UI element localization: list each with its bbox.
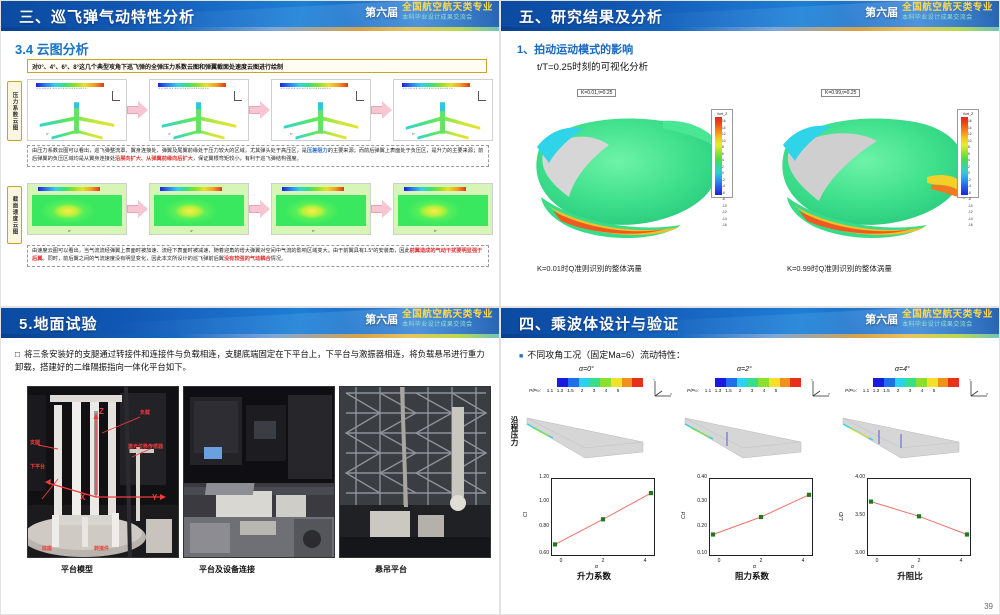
velocity-case-label-1: 4° xyxy=(190,229,193,233)
chart1-title: 阻力系数 xyxy=(673,570,831,582)
chart1-ytick-1: 0.20 xyxy=(685,523,707,529)
note2-part-c: 情况。 xyxy=(271,256,287,262)
chart2-xtick-0: 0 xyxy=(870,558,884,564)
chart1-xtick-1: 2 xyxy=(754,558,768,564)
waverider-geometry-2 xyxy=(839,402,999,476)
logo-line2: 本科毕业设计成果交流会 xyxy=(902,15,993,21)
row1-vertical-label: 压力系数云图 xyxy=(7,81,22,141)
arrow-icon-2 xyxy=(249,100,271,120)
row2-vertical-label: 截面速度云图 xyxy=(7,186,22,244)
logo-edition: 第六届 xyxy=(365,311,398,327)
right-condition-label: K=0.99,t=0.25 xyxy=(821,89,860,97)
chart0-ytick-2: 1.00 xyxy=(527,498,549,504)
conference-logo: 第六届 全国航空航天类专业 本科毕业设计成果交流会 xyxy=(865,310,993,328)
tick: 5 xyxy=(928,388,940,393)
slide1-header-title: 三、巡飞弹气动特性分析 xyxy=(19,6,195,27)
chart0-ytick-0: 0.60 xyxy=(527,550,549,556)
chart2-series xyxy=(867,478,971,556)
cfd-image-8deg: -1.0 -0.8 -0.6 -0.4 -0.2 0 0.2 0.4 0.6 0… xyxy=(393,79,493,141)
note1-part-c: ，保证翼根弯矩较小，有利于巡飞弹结构强度。 xyxy=(193,156,302,162)
tick: -16 xyxy=(968,222,973,229)
chart1-xtick-0: 0 xyxy=(712,558,726,564)
bullet-text: 将三条安装好的支腿通过转接件和连接件与负载相连，支腿底端固定在下平台上，下平台与… xyxy=(15,349,485,372)
alpha-label-1: α=2° xyxy=(737,366,752,373)
waverider-panel-0: α=0° P/P∞: 1.1 1.3 1.5 2 3 4 5 Y xyxy=(523,366,683,476)
axis-triad-icon-0: Y X xyxy=(651,378,673,398)
slide1-header: 三、巡飞弹气动特性分析 第六届 全国航空航天类专业 本科毕业设计成果交流会 xyxy=(1,1,499,31)
photo-strip: 负载 激光位移传感器 支腿 下平台 Z X Y 底座 转接件 xyxy=(27,386,491,558)
anno-axis-y: Y xyxy=(152,493,157,502)
vorticity-colorbar-right: Vort_Z 16 14 12 10 8 6 4 2 0 -2 -4 -6 -8… xyxy=(957,109,979,198)
chart1-series xyxy=(709,478,813,556)
tick: 1.1 xyxy=(545,388,555,393)
page-number: 39 xyxy=(984,602,993,611)
note2-part-b: 。同时，前后翼之间的气流速度没有明显变化，因此本文所设计的巡飞弹前后翼 xyxy=(42,256,224,262)
photo3-render xyxy=(340,387,491,558)
pbar-legend-label: P/P∞: xyxy=(529,388,541,393)
waverider-geometry-1 xyxy=(681,402,841,476)
slide3-header-title: 5.地面试验 xyxy=(19,313,98,334)
slide4-bullet: ■不同攻角工况（固定Ma=6）流动特性： xyxy=(519,348,685,361)
colorbar-gradient xyxy=(961,117,968,195)
tick: 1.1 xyxy=(703,388,713,393)
chart1-ytick-2: 0.30 xyxy=(685,498,707,504)
logo-edition: 第六届 xyxy=(865,311,898,327)
anno-adapter: 转接件 xyxy=(94,545,109,552)
pbar-legend-label: P/P∞: xyxy=(687,388,699,393)
tick: 3 xyxy=(588,388,600,393)
tick: 2 xyxy=(892,388,904,393)
pbar-legend-label: P/P∞: xyxy=(845,388,857,393)
vorticity-colorbar-left: Vort_Z 16 14 12 10 8 6 4 2 0 -2 -4 -6 -8… xyxy=(711,109,733,198)
chart0-ytick-1: 0.80 xyxy=(527,523,549,529)
cfd-image-6deg: -1.0 -0.8 -0.6 -0.4 -0.2 0 0.2 0.4 0.6 0… xyxy=(271,79,371,141)
chart1-ylabel: Cd xyxy=(681,512,687,519)
note1-highlight-2: 沿展向扩大、从弹翼前缘向后扩大 xyxy=(115,156,193,162)
uav-pressure-contour xyxy=(394,94,492,141)
anno-laser-sensor: 激光位移传感器 xyxy=(128,443,163,450)
slide1-section-title: 3.4 云图分析 xyxy=(15,39,89,58)
tick: -16 xyxy=(722,222,727,229)
slide3-bullet: □将三条安装好的支腿通过转接件和连接件与负载相连，支腿底端固定在下平台上，下平台… xyxy=(15,348,487,374)
left-condition-label: K=0.01,t=0.25 xyxy=(577,89,616,97)
slide2-heading: 1、拍动运动模式的影响 xyxy=(517,41,633,57)
alpha-label-0: α=0° xyxy=(579,366,594,373)
velocity-image-8deg: 8° xyxy=(393,183,493,235)
tick: -12 xyxy=(722,209,727,216)
velocity-field xyxy=(32,195,122,226)
note2-highlight-2: 没有较强的气动耦合 xyxy=(224,256,271,262)
pressure-ticks-1: P/P∞: 1.1 1.3 1.5 2 3 4 5 xyxy=(687,388,807,393)
anno-axis-z: Z xyxy=(99,407,104,416)
cfd-case-label-0: 0° xyxy=(46,132,49,136)
velocity-field xyxy=(276,195,366,226)
anno-base: 底座 xyxy=(42,545,52,552)
svg-text:X: X xyxy=(986,392,988,396)
velocity-image-4deg: 4° xyxy=(149,183,249,235)
bullet-text: 不同攻角工况（固定Ma=6）流动特性： xyxy=(527,350,685,360)
tick: 2 xyxy=(576,388,588,393)
svg-text:X: X xyxy=(828,392,830,396)
bullet-marker-icon: □ xyxy=(15,349,20,359)
logo-edition: 第六届 xyxy=(365,4,398,20)
svg-text:Y: Y xyxy=(653,378,655,382)
slide3-header: 5.地面试验 第六届 全国航空航天类专业 本科毕业设计成果交流会 xyxy=(1,308,499,338)
note2-part-a: 由速度云图可以看出，当气流流经弹翼上表面时被加速、流经下表面时被减速，随着迎角的… xyxy=(32,248,410,254)
anno-axis-x: X xyxy=(80,493,85,502)
uav-pressure-contour xyxy=(272,94,370,141)
logo-line1: 全国航空航天类专业 xyxy=(902,3,993,13)
slide-waverider-design: 四、乘波体设计与验证 第六届 全国航空航天类专业 本科毕业设计成果交流会 ■不同… xyxy=(500,307,1000,615)
arrow-icon-1 xyxy=(127,100,149,120)
pressure-ticks-2: P/P∞: 1.1 1.3 1.5 2 3 4 5 xyxy=(845,388,965,393)
arrow-icon-3 xyxy=(371,100,393,120)
conference-logo: 第六届 全国航空航天类专业 本科毕业设计成果交流会 xyxy=(865,3,993,21)
logo-line1: 全国航空航天类专业 xyxy=(402,310,493,320)
chart1-xtick-2: 4 xyxy=(796,558,810,564)
vortex-isosurface-left xyxy=(513,101,743,251)
svg-text:Y: Y xyxy=(811,378,813,382)
arrow-icon-6 xyxy=(371,199,393,219)
logo-edition: 第六届 xyxy=(865,4,898,20)
pressure-analysis-note: 由压力系数云图可以看出，巡飞弹整流罩、翼身连接处、弹翼及尾翼前缘处于压力较大的区… xyxy=(27,145,489,167)
uav-pressure-contour xyxy=(28,94,126,141)
logo-line2: 本科毕业设计成果交流会 xyxy=(402,15,493,21)
axis-triad-icon-2: Y X xyxy=(967,378,989,398)
cfd-colorbar-ticks: -1.0 -0.8 -0.6 -0.4 -0.2 0 0.2 0.4 0.6 0… xyxy=(402,88,476,90)
tick: 1.1 xyxy=(861,388,871,393)
tick: 1.3 xyxy=(871,388,881,393)
arrow-icon-4 xyxy=(127,199,149,219)
tick: 3 xyxy=(904,388,916,393)
velocity-image-6deg: 6° xyxy=(271,183,371,235)
chart-drag-coefficient: Cd 0.40 0.30 0.20 0.10 0 2 4 α 阻力系数 xyxy=(673,468,831,586)
chart-lift-drag-ratio: L/D 4.00 3.50 3.00 0 2 4 α 升阻比 xyxy=(831,468,989,586)
tick: 3 xyxy=(746,388,758,393)
tick: 5 xyxy=(770,388,782,393)
waverider-panel-2: α=4° P/P∞: 1.1 1.3 1.5 2 3 4 5 Y xyxy=(839,366,999,476)
velocity-colorbar xyxy=(38,187,100,191)
velocity-colorbar xyxy=(282,187,344,191)
chart2-xtick-2: 4 xyxy=(954,558,968,564)
pressure-colorbar-0 xyxy=(557,378,643,387)
conference-logo: 第六届 全国航空航天类专业 本科毕业设计成果交流会 xyxy=(365,3,493,21)
pressure-colorbar-1 xyxy=(715,378,801,387)
photo-platform-model: 负载 激光位移传感器 支腿 下平台 Z X Y 底座 转接件 xyxy=(27,386,179,558)
photo-caption-2: 平台及设备连接 xyxy=(199,564,255,575)
slide2-header-title: 五、研究结果及分析 xyxy=(519,6,663,27)
bullet-marker-icon: ■ xyxy=(519,353,523,360)
arrow-icon-5 xyxy=(249,199,271,219)
slide-ground-test: 5.地面试验 第六届 全国航空航天类专业 本科毕业设计成果交流会 □将三条安装好… xyxy=(0,307,500,615)
cfd-case-label-3: 8° xyxy=(412,132,415,136)
waverider-panel-1: α=2° P/P∞: 1.1 1.3 1.5 2 3 4 5 Y xyxy=(681,366,841,476)
chart2-ytick-2: 4.00 xyxy=(843,474,865,480)
pressure-colorbar-2 xyxy=(873,378,959,387)
colorbar-title: Vort_Z xyxy=(960,112,976,116)
velocity-colorbar xyxy=(160,187,222,191)
tick: 1.3 xyxy=(713,388,723,393)
chart-lift-coefficient: Cl 1.20 1.00 0.80 0.60 0 2 4 α 升力系数 xyxy=(515,468,673,586)
slide-research-results: 五、研究结果及分析 第六届 全国航空航天类专业 本科毕业设计成果交流会 1、拍动… xyxy=(500,0,1000,307)
tick: 4 xyxy=(758,388,770,393)
velocity-colorbar xyxy=(404,187,466,191)
velocity-contour-row: 0° 4° 6° 8° xyxy=(27,183,493,235)
cfd-colorbar xyxy=(36,83,104,87)
pressure-coefficient-row: -1.0 -0.8 -0.6 -0.4 -0.2 0 0.2 0.4 0.6 0… xyxy=(27,79,493,141)
uav-pressure-contour xyxy=(150,94,248,141)
axis-triad-icon-1: Y X xyxy=(809,378,831,398)
tick: 1.5 xyxy=(723,388,734,393)
chart0-xtick-0: 0 xyxy=(554,558,568,564)
colorbar-title: Vort_Z xyxy=(714,112,730,116)
tick: 1.5 xyxy=(565,388,576,393)
anno-lower-platform: 下平台 xyxy=(30,463,45,470)
slide2-subheading: t/T=0.25时刻的可视化分析 xyxy=(537,59,648,73)
left-figure-caption: K=0.01时Q准则识别的整体涡量 xyxy=(537,263,642,274)
photo-caption-3: 悬吊平台 xyxy=(375,564,407,575)
chart0-ytick-3: 1.20 xyxy=(527,474,549,480)
right-figure-caption: K=0.99时Q准则识别的整体涡量 xyxy=(787,263,892,274)
photo-equipment-connection xyxy=(183,386,335,558)
slide4-header-title: 四、乘波体设计与验证 xyxy=(519,313,679,334)
tick: 1.3 xyxy=(555,388,565,393)
chart0-series xyxy=(551,478,655,556)
cfd-image-0deg: -1.0 -0.8 -0.6 -0.4 -0.2 0 0.2 0.4 0.6 0… xyxy=(27,79,127,141)
tick: 5 xyxy=(612,388,624,393)
conference-logo: 第六届 全国航空航天类专业 本科毕业设计成果交流会 xyxy=(365,310,493,328)
logo-line1: 全国航空航天类专业 xyxy=(902,310,993,320)
pressure-ticks-0: P/P∞: 1.1 1.3 1.5 2 3 4 5 xyxy=(529,388,649,393)
note1-highlight-1: 压差阻力 xyxy=(307,148,328,154)
chart1-ytick-0: 0.10 xyxy=(685,550,707,556)
chart0-xtick-1: 2 xyxy=(596,558,610,564)
chart0-title: 升力系数 xyxy=(515,570,673,582)
slide4-header: 四、乘波体设计与验证 第六届 全国航空航天类专业 本科毕业设计成果交流会 xyxy=(501,308,999,338)
chart2-ytick-0: 3.00 xyxy=(843,550,865,556)
cfd-colorbar xyxy=(402,83,470,87)
cfd-colorbar-ticks: -1.0 -0.8 -0.6 -0.4 -0.2 0 0.2 0.4 0.6 0… xyxy=(158,88,232,90)
velocity-field xyxy=(398,195,488,226)
cfd-colorbar-ticks: -1.0 -0.8 -0.6 -0.4 -0.2 0 0.2 0.4 0.6 0… xyxy=(36,88,110,90)
tick: 1.5 xyxy=(881,388,892,393)
cfd-colorbar xyxy=(158,83,226,87)
note1-part-a: 由压力系数云图可以看出，巡飞弹整流罩、翼身连接处、弹翼及尾翼前缘处于压力较大的区… xyxy=(32,148,307,154)
velocity-image-0deg: 0° xyxy=(27,183,127,235)
logo-line1: 全国航空航天类专业 xyxy=(402,3,493,13)
chart0-ylabel: Cl xyxy=(523,512,529,517)
vortex-render-left: Vort_Z 16 14 12 10 8 6 4 2 0 -2 -4 -6 -8… xyxy=(513,101,743,251)
anno-load: 负载 xyxy=(140,409,150,416)
slide1-banner: 对0°、4°、6°、8°这几个典型攻角下巡飞弹的全弹压力系数云图和弹翼截面处速度… xyxy=(27,59,487,73)
tick: 2 xyxy=(734,388,746,393)
velocity-analysis-note: 由速度云图可以看出，当气流流经弹翼上表面时被加速、流经下表面时被减速，随着迎角的… xyxy=(27,245,489,267)
slide-grid: 三、巡飞弹气动特性分析 第六届 全国航空航天类专业 本科毕业设计成果交流会 3.… xyxy=(0,0,1000,615)
logo-line2: 本科毕业设计成果交流会 xyxy=(402,322,493,328)
alpha-label-2: α=4° xyxy=(895,366,910,373)
chart2-title: 升阻比 xyxy=(831,570,989,582)
slide2-header: 五、研究结果及分析 第六届 全国航空航天类专业 本科毕业设计成果交流会 xyxy=(501,1,999,31)
cfd-case-label-2: 6° xyxy=(290,132,293,136)
cfd-image-4deg: -1.0 -0.8 -0.6 -0.4 -0.2 0 0.2 0.4 0.6 0… xyxy=(149,79,249,141)
chart1-ytick-3: 0.40 xyxy=(685,474,707,480)
chart0-xtick-2: 4 xyxy=(638,558,652,564)
vortex-isosurface-right xyxy=(759,101,989,251)
chart2-xtick-1: 2 xyxy=(912,558,926,564)
photo-suspension-platform xyxy=(339,386,491,558)
tick: 4 xyxy=(916,388,928,393)
cfd-colorbar-ticks: -1.0 -0.8 -0.6 -0.4 -0.2 0 0.2 0.4 0.6 0… xyxy=(280,88,354,90)
slide-aerodynamic-analysis: 三、巡飞弹气动特性分析 第六届 全国航空航天类专业 本科毕业设计成果交流会 3.… xyxy=(0,0,500,307)
tick: 4 xyxy=(600,388,612,393)
tick: -12 xyxy=(968,209,973,216)
velocity-case-label-2: 6° xyxy=(312,229,315,233)
velocity-case-label-0: 0° xyxy=(68,229,71,233)
chart2-ytick-1: 3.50 xyxy=(843,512,865,518)
logo-line2: 本科毕业设计成果交流会 xyxy=(902,322,993,328)
colorbar-gradient xyxy=(715,117,722,195)
vortex-render-right: Vort_Z 16 14 12 10 8 6 4 2 0 -2 -4 -6 -8… xyxy=(759,101,989,251)
svg-text:Y: Y xyxy=(969,378,971,382)
velocity-case-label-3: 8° xyxy=(434,229,437,233)
colorbar-ticks: 16 14 12 10 8 6 4 2 0 -2 -4 -6 -8 -10 -1… xyxy=(968,118,973,229)
colorbar-ticks: 16 14 12 10 8 6 4 2 0 -2 -4 -6 -8 -10 -1… xyxy=(722,118,727,229)
waverider-geometry-0 xyxy=(523,402,683,476)
side-label-pressure: 沿程压力 xyxy=(507,416,519,446)
cfd-case-label-1: 4° xyxy=(168,132,171,136)
anno-leg: 支腿 xyxy=(30,439,40,446)
cfd-colorbar xyxy=(280,83,348,87)
photo2-render xyxy=(184,387,335,558)
svg-text:X: X xyxy=(670,392,672,396)
photo-caption-1: 平台模型 xyxy=(61,564,93,575)
velocity-field xyxy=(154,195,244,226)
